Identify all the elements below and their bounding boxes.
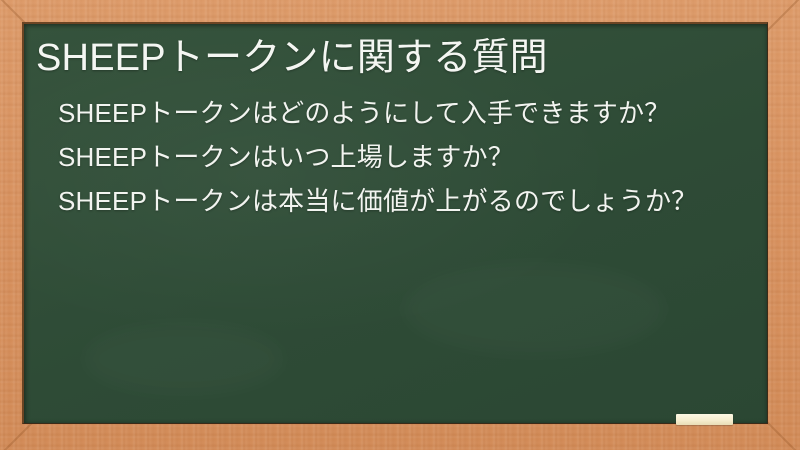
- question-list: SHEEPトークンはどのようにして入手できますか？ SHEEPトークンはいつ上場…: [36, 96, 749, 228]
- chalk-smudge: [84, 324, 284, 394]
- chalk-stick: [676, 414, 733, 425]
- blackboard-wooden-frame: SHEEPトークンに関する質問 SHEEPトークンはどのようにして入手できますか…: [0, 0, 800, 450]
- chalk-smudge: [404, 264, 664, 354]
- list-item: SHEEPトークンはどのようにして入手できますか？: [36, 96, 749, 132]
- blackboard-surface: SHEEPトークンに関する質問 SHEEPトークンはどのようにして入手できますか…: [22, 22, 768, 424]
- frame-miter-bottom-right: [766, 421, 800, 450]
- list-item: SHEEPトークンはいつ上場しますか？: [36, 140, 749, 176]
- list-item: SHEEPトークンは本当に価値が上がるのでしょうか？: [36, 184, 749, 220]
- frame-miter-bottom-left: [0, 421, 34, 450]
- page-title: SHEEPトークンに関する質問: [36, 34, 753, 83]
- frame-miter-top-right: [766, 0, 800, 32]
